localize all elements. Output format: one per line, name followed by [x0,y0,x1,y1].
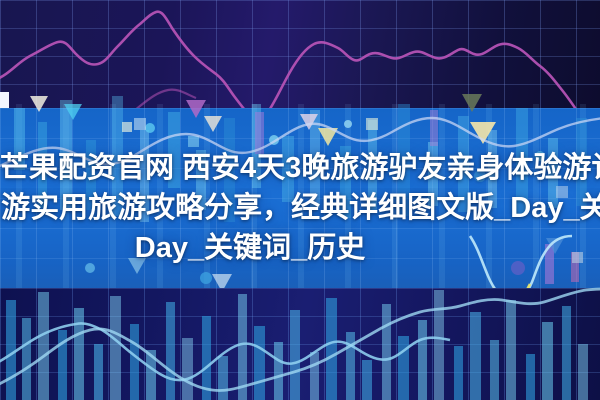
headline-line-2-wrap: 4日游实用旅游攻略分享，经典详细图文版_Day_关键 [0,188,600,228]
chart-grid-bottom [0,288,600,400]
banner-headline: 芒果配资官网 西安4天3晚旅游驴友亲身体验游记 4日游实用旅游攻略分享，经典详细… [0,148,600,268]
headline-line-3: Day_关键词_历史 [135,228,365,268]
article-thumbnail-banner: 芒果配资官网 西安4天3晚旅游驴友亲身体验游记 4日游实用旅游攻略分享，经典详细… [0,0,600,400]
headline-line-3-wrap: Day_关键词_历史 [0,228,600,268]
white-corner-chip [0,92,9,108]
chart-grid-top [0,0,600,110]
headline-line-2: 4日游实用旅游攻略分享，经典详细图文版_Day_关键 [0,188,600,228]
headline-line-1: 芒果配资官网 西安4天3晚旅游驴友亲身体验游记 [0,148,600,188]
